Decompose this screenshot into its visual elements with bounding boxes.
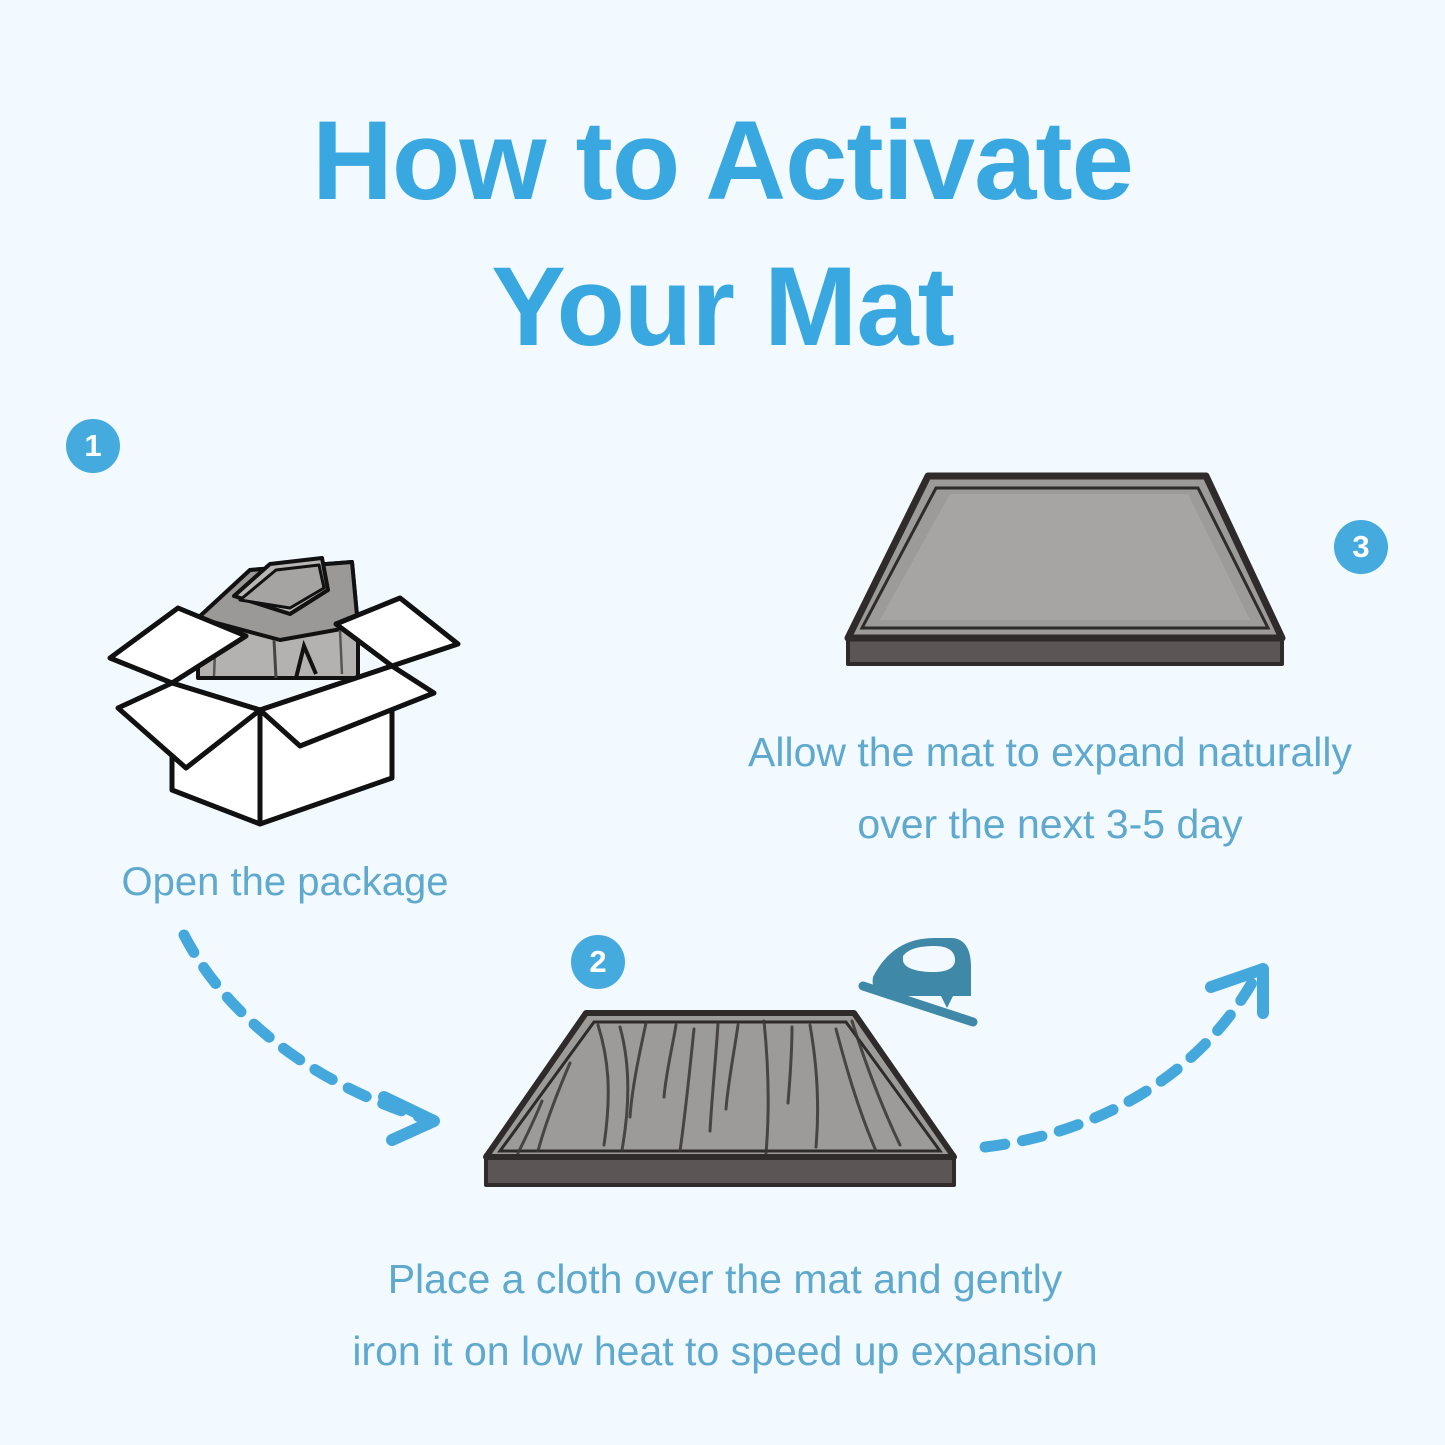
arrow-step1-to-step2: [168, 925, 498, 1155]
step-3-caption: Allow the mat to expand naturally over t…: [660, 716, 1440, 860]
cloth-covered-mat-icon: [480, 1005, 960, 1220]
flat-mat-illustration: [820, 468, 1310, 693]
arrow-step2-to-step3: [975, 955, 1295, 1165]
dashed-arrow-up-right-icon: [975, 955, 1295, 1165]
compressed-mat-package: [198, 558, 358, 678]
page-title: How to Activate Your Mat: [0, 88, 1445, 380]
cloth-covered-mat-illustration: [480, 1005, 960, 1220]
cardboard-box-icon: [100, 478, 470, 828]
infographic-poster: How to Activate Your Mat 1: [0, 0, 1445, 1445]
dashed-arrow-down-right-icon: [168, 925, 498, 1155]
step-badge-1: 1: [66, 419, 120, 473]
step-badge-2: 2: [571, 935, 625, 989]
step-badge-3: 3: [1334, 520, 1388, 574]
flat-mat-icon: [820, 468, 1310, 693]
step-2-caption: Place a cloth over the mat and gently ir…: [240, 1243, 1210, 1387]
open-box-illustration: [100, 478, 470, 828]
step-1-caption: Open the package: [25, 846, 545, 918]
